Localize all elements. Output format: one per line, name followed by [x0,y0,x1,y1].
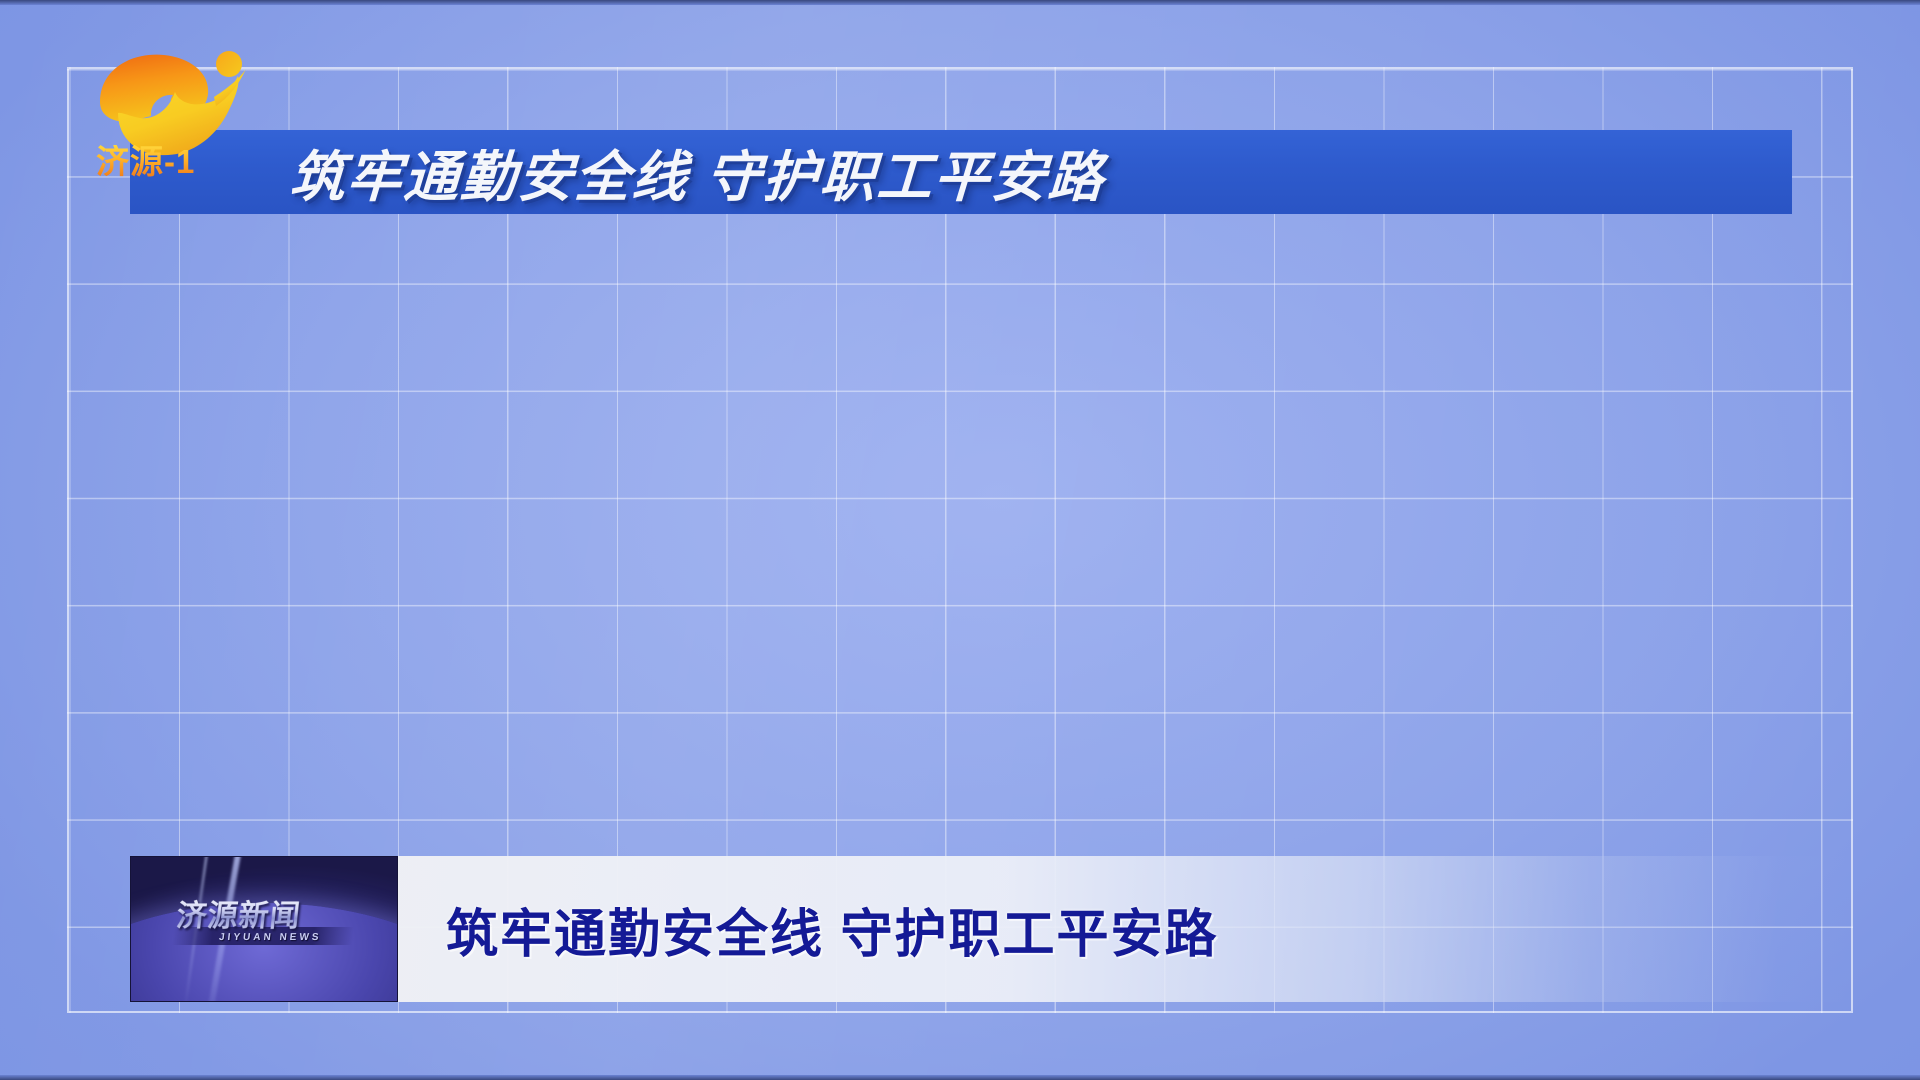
headline-bar: 筑牢通勤安全线 守护职工平安路 [130,130,1792,214]
letterbox-bottom [0,1075,1920,1080]
channel-logo-label: 济源-1 [96,145,261,178]
news-program-subtitle: JIYUAN NEWS [218,932,322,943]
caption-text: 筑牢通勤安全线 守护职工平安路 [446,892,1218,967]
caption-bar: 筑牢通勤安全线 守护职工平安路 [398,856,1850,1002]
lower-third: 济源新闻 JIYUAN NEWS 筑牢通勤安全线 守护职工平安路 [130,856,1850,1002]
channel-logo: 济源-1 [88,36,263,196]
letterbox-top [0,0,1920,5]
news-program-thumbnail-icon: 济源新闻 JIYUAN NEWS [130,856,398,1002]
broadcast-frame: 济源-1 筑牢通勤安全线 守护职工平安路 济源新闻 JIYUAN NEWS 筑牢… [0,0,1920,1080]
headline-title: 筑牢通勤安全线 守护职工平安路 [288,132,1107,212]
news-program-title: 济源新闻 [175,891,304,935]
